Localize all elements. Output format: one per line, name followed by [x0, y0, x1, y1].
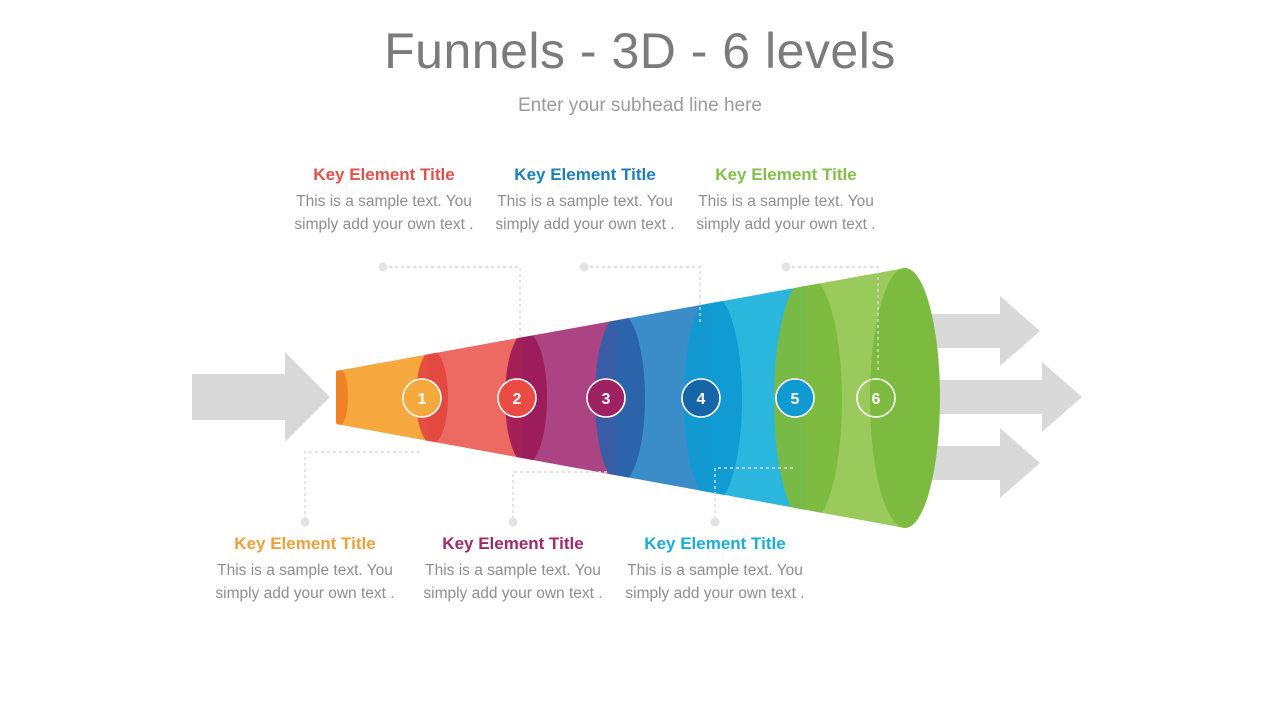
funnel-badge-2[interactable]: 2	[498, 379, 536, 417]
key-element-body-6: This is a sample text. You simply add yo…	[691, 190, 881, 236]
key-element-body-3: This is a sample text. You simply add yo…	[418, 559, 608, 605]
funnel-badge-5[interactable]: 5	[776, 379, 814, 417]
key-element-block-3[interactable]: Key Element Title This is a sample text.…	[418, 533, 608, 605]
funnel-front-face	[870, 268, 940, 528]
key-element-title-1: Key Element Title	[210, 533, 400, 555]
key-element-title-4: Key Element Title	[490, 164, 680, 186]
connector-dot-4	[580, 263, 589, 272]
key-element-block-4[interactable]: Key Element Title This is a sample text.…	[490, 164, 680, 236]
badge-label-4: 4	[697, 391, 706, 408]
funnel-badge-1[interactable]: 1	[403, 379, 441, 417]
badge-label-1: 1	[418, 391, 427, 408]
key-element-title-5: Key Element Title	[620, 533, 810, 555]
connector-dot-1	[301, 518, 310, 527]
badge-label-6: 6	[872, 391, 881, 408]
key-element-title-6: Key Element Title	[691, 164, 881, 186]
slide-canvas: Funnels - 3D - 6 levels Enter your subhe…	[0, 0, 1280, 720]
key-element-block-6[interactable]: Key Element Title This is a sample text.…	[691, 164, 881, 236]
key-element-block-1[interactable]: Key Element Title This is a sample text.…	[210, 533, 400, 605]
badge-label-2: 2	[513, 391, 522, 408]
key-element-title-2: Key Element Title	[289, 164, 479, 186]
key-element-body-2: This is a sample text. You simply add yo…	[289, 190, 479, 236]
connector-2	[383, 267, 520, 340]
cap-ellipse-1	[332, 369, 348, 425]
key-element-body-4: This is a sample text. You simply add yo…	[490, 190, 680, 236]
key-element-title-3: Key Element Title	[418, 533, 608, 555]
key-element-body-1: This is a sample text. You simply add yo…	[210, 559, 400, 605]
funnel-diagram: 1 2 3 4 5 6	[0, 0, 1280, 720]
connector-3	[513, 472, 607, 520]
badge-label-5: 5	[791, 391, 800, 408]
funnel-badge-3[interactable]: 3	[587, 379, 625, 417]
connector-dot-3	[509, 518, 518, 527]
connector-dot-2	[379, 263, 388, 272]
key-element-block-5[interactable]: Key Element Title This is a sample text.…	[620, 533, 810, 605]
funnel-badge-4[interactable]: 4	[682, 379, 720, 417]
key-element-body-5: This is a sample text. You simply add yo…	[620, 559, 810, 605]
key-element-block-2[interactable]: Key Element Title This is a sample text.…	[289, 164, 479, 236]
badge-label-3: 3	[602, 391, 611, 408]
input-arrow	[192, 352, 330, 442]
connector-dot-5	[711, 518, 720, 527]
connector-1	[305, 452, 420, 520]
connector-dot-6	[782, 263, 791, 272]
